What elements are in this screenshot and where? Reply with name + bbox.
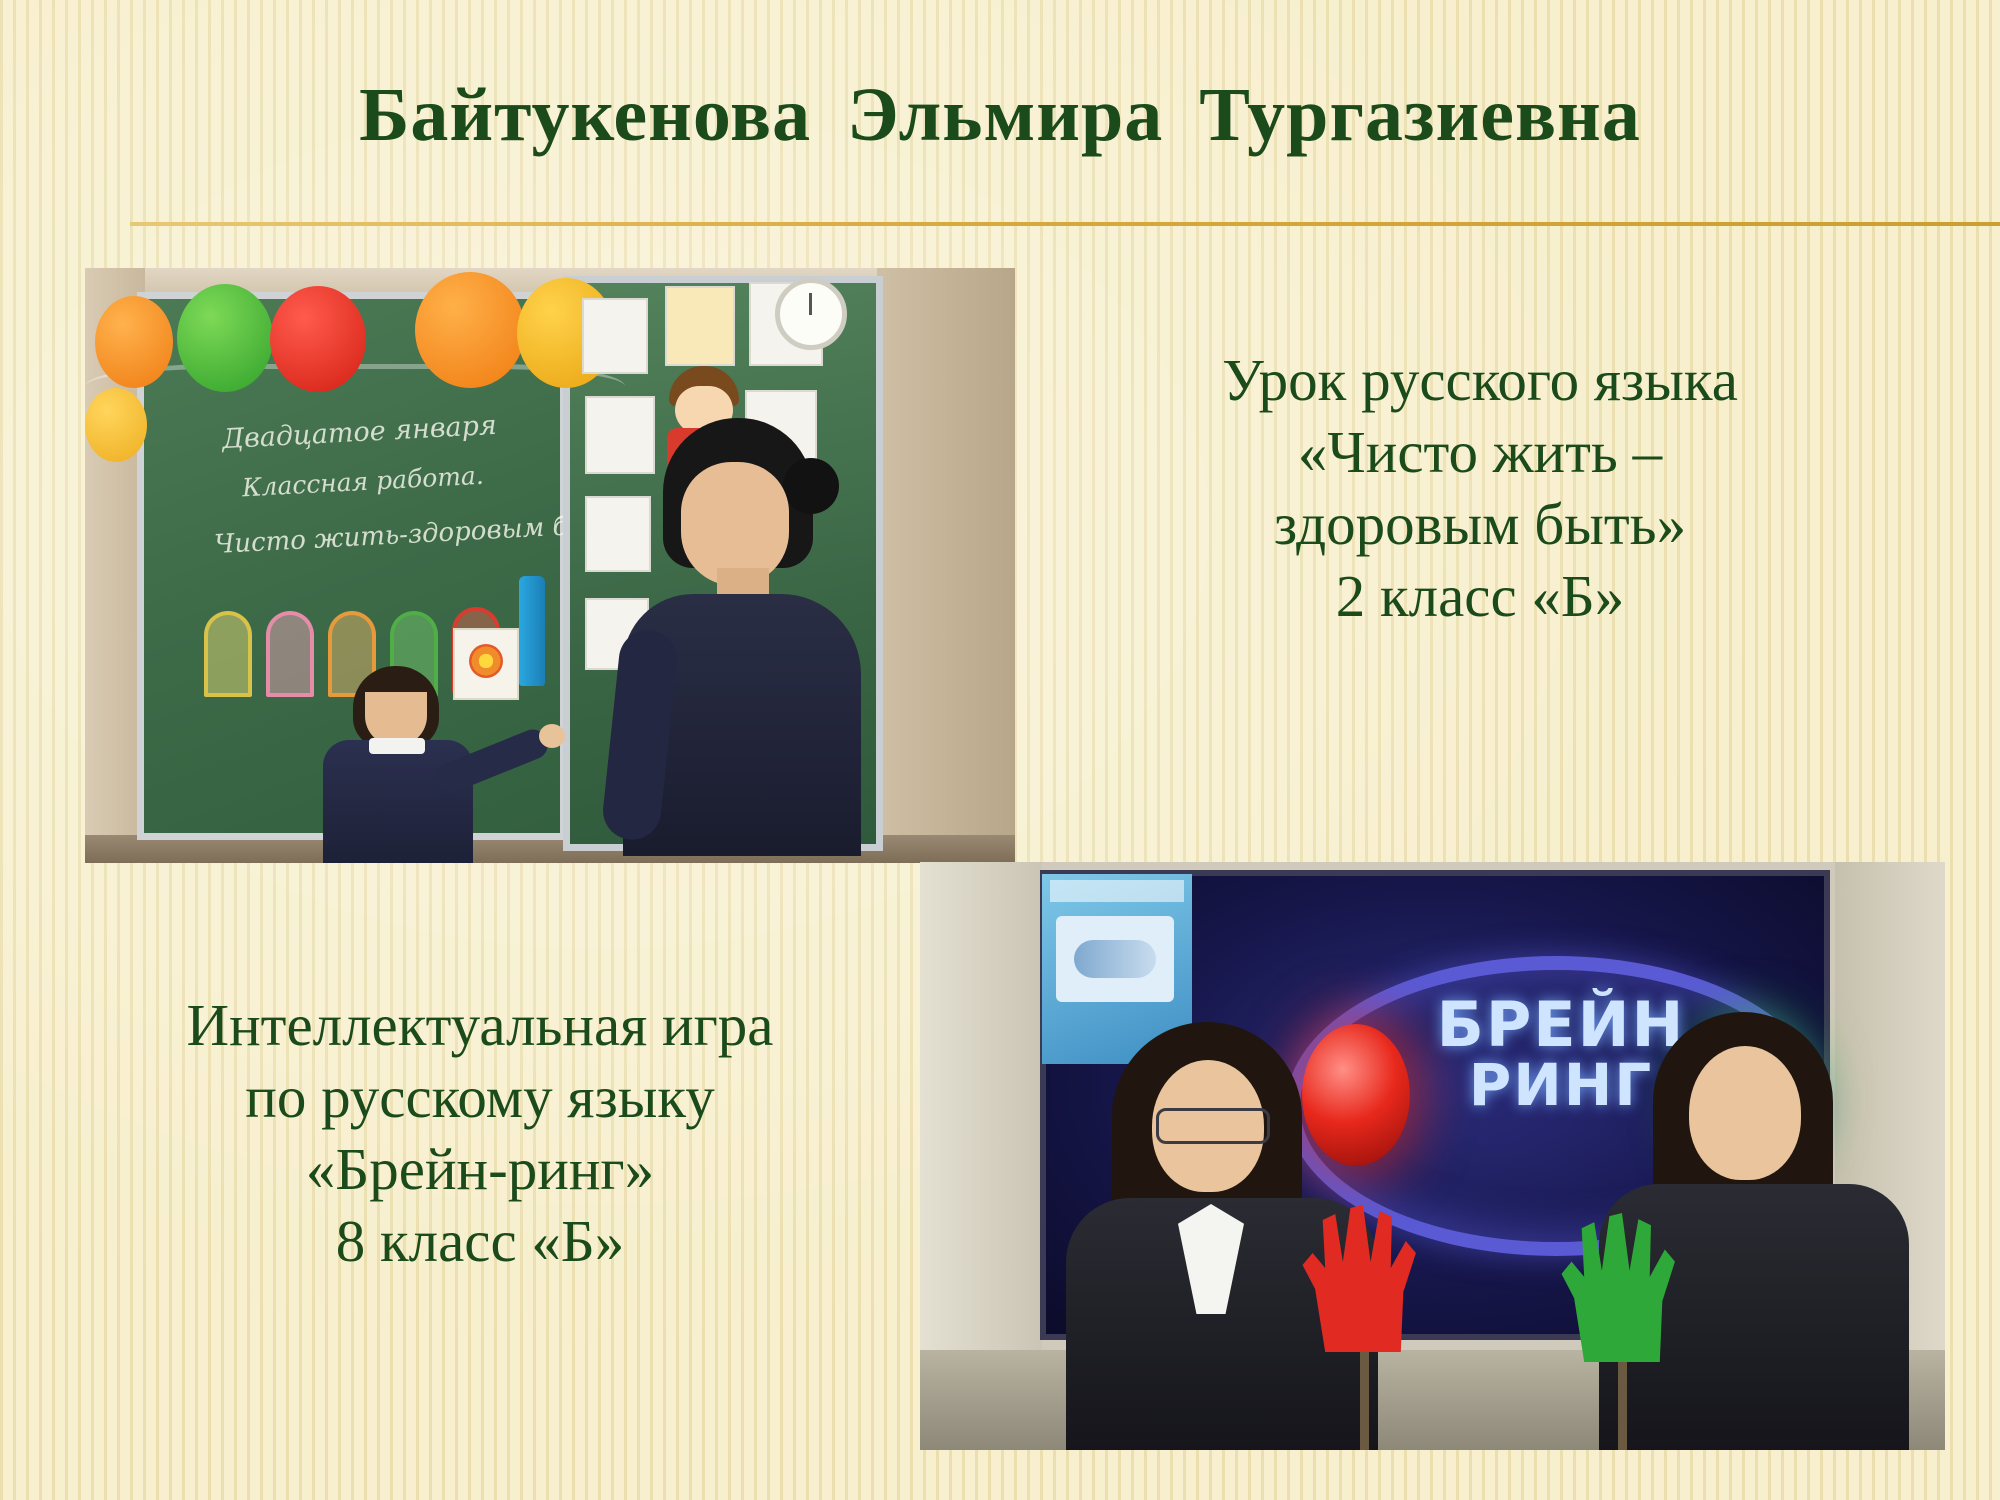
balloon-orange-2 bbox=[415, 272, 525, 388]
balloon-red bbox=[270, 286, 366, 392]
page-title: Байтукенова Эльмира Тургазиевна bbox=[0, 72, 2000, 159]
brain-ring-game-photo: БРЕЙН РИНГ bbox=[920, 862, 1945, 1450]
wall-right bbox=[877, 268, 1015, 863]
wall-card-2 bbox=[665, 286, 735, 366]
right-caption-line-3: здоровым быть» bbox=[1050, 489, 1910, 561]
red-hand-stick bbox=[1360, 1342, 1369, 1450]
right-caption: Урок русского языка «Чисто жить – здоров… bbox=[1050, 345, 1910, 633]
chalkboard-text-date: Двадцатое января bbox=[221, 410, 497, 455]
green-hand-stick bbox=[1618, 1354, 1627, 1450]
balloon-yellow-small bbox=[85, 388, 147, 462]
clock-icon bbox=[775, 278, 847, 350]
pupil-hand bbox=[539, 724, 565, 748]
right-caption-line-4: 2 класс «Б» bbox=[1050, 561, 1910, 633]
right-caption-line-2: «Чисто жить – bbox=[1050, 417, 1910, 489]
student-right-face bbox=[1689, 1046, 1801, 1180]
left-caption-line-4: 8 класс «Б» bbox=[60, 1206, 900, 1278]
balloon-orange-1 bbox=[95, 296, 173, 388]
side-info-panel-header bbox=[1050, 880, 1184, 902]
marker-pen bbox=[519, 576, 545, 686]
pupil-body bbox=[323, 740, 473, 863]
door-shape-pink bbox=[266, 611, 314, 697]
side-info-panel-image bbox=[1056, 916, 1174, 1002]
glasses-icon bbox=[1156, 1108, 1270, 1144]
balloon-green bbox=[177, 284, 273, 392]
slide-root: Байтукенова Эльмира Тургазиевна Двадцато… bbox=[0, 0, 2000, 1500]
door-shape-yellow bbox=[204, 611, 252, 697]
teacher-figure bbox=[605, 418, 875, 856]
left-caption-line-3: «Брейн-ринг» bbox=[60, 1134, 900, 1206]
left-caption: Интеллектуальная игра по русскому языку … bbox=[60, 990, 900, 1278]
brain-ring-scene: БРЕЙН РИНГ bbox=[920, 862, 1945, 1450]
student-right-figure bbox=[1585, 1012, 1915, 1450]
classroom-scene: Двадцатое января Классная работа. Чисто … bbox=[85, 268, 1015, 863]
pupil-collar bbox=[369, 738, 425, 754]
teacher-hair-bun bbox=[783, 458, 839, 514]
wall-card-1 bbox=[582, 298, 648, 374]
pupil-figure bbox=[313, 666, 503, 863]
right-caption-line-1: Урок русского языка bbox=[1050, 345, 1910, 417]
left-caption-line-1: Интеллектуальная игра bbox=[60, 990, 900, 1062]
chalkboard-text-classwork: Классная работа. bbox=[241, 461, 484, 503]
left-caption-line-2: по русскому языку bbox=[60, 1062, 900, 1134]
classroom-lesson-photo: Двадцатое января Классная работа. Чисто … bbox=[85, 268, 1015, 863]
student-left-figure bbox=[1060, 1022, 1390, 1450]
title-divider bbox=[130, 222, 2000, 226]
